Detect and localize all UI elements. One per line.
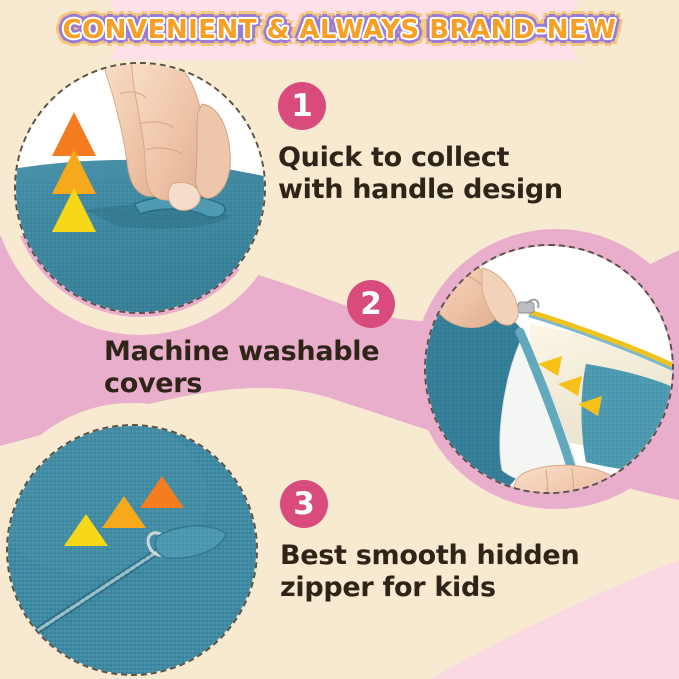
infographic-canvas: CONVENIENT & ALWAYS BRAND-NEW <box>0 0 679 679</box>
page-title: CONVENIENT & ALWAYS BRAND-NEW <box>0 9 679 51</box>
step-3-badge: 3 <box>280 480 328 528</box>
step-1: 1 Quick to collect with handle design <box>278 82 638 206</box>
cover-photo <box>424 244 674 494</box>
step-3: 3 Best smooth hidden zipper for kids <box>280 480 640 604</box>
handle-photo <box>14 62 266 314</box>
step-2-text: Machine washable covers <box>104 336 434 400</box>
page-title-text: CONVENIENT & ALWAYS BRAND-NEW <box>63 15 617 45</box>
step-1-badge: 1 <box>278 82 326 130</box>
step-3-text: Best smooth hidden zipper for kids <box>280 540 640 604</box>
step-1-text: Quick to collect with handle design <box>278 142 638 206</box>
zipper-photo <box>6 424 258 676</box>
step-2-badge: 2 <box>347 280 395 328</box>
